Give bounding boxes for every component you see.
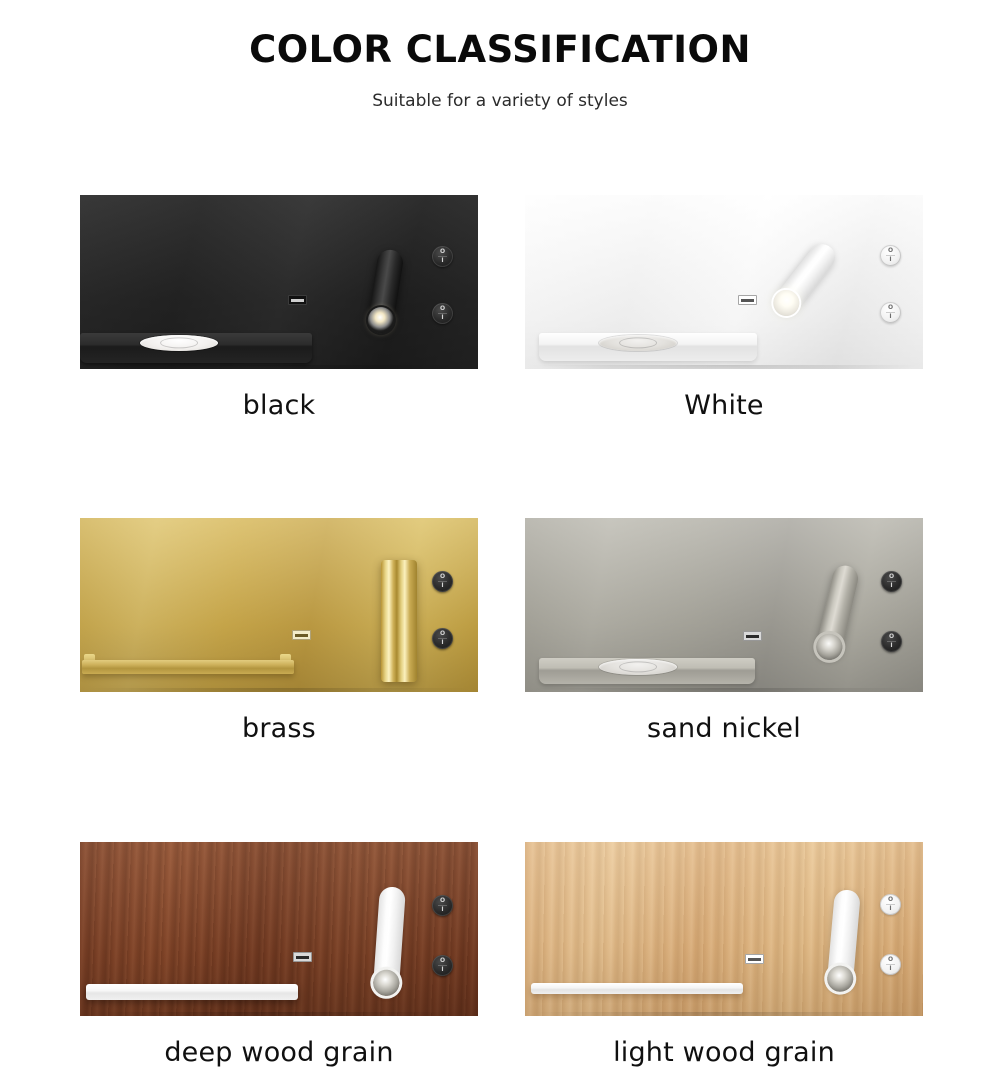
usb-port-icon xyxy=(743,631,762,641)
page-subtitle: Suitable for a variety of styles xyxy=(0,91,1000,111)
page-title: COLOR CLASSIFICATION xyxy=(0,30,1000,71)
variant-label-light-wood-grain: light wood grain xyxy=(525,1037,923,1068)
usb-port-icon xyxy=(292,630,311,640)
power-switch-top[interactable]: O I xyxy=(880,245,901,266)
wall-panel-white: O I O I xyxy=(525,195,923,369)
usb-slot xyxy=(296,956,309,959)
product-image-light-wood-grain[interactable]: O I O I xyxy=(525,842,923,1016)
usb-port-icon xyxy=(288,295,307,305)
product-shelf xyxy=(82,660,294,674)
switch-glyph-i: I xyxy=(889,257,891,263)
usb-port-icon xyxy=(293,952,312,962)
switch-glyph-i: I xyxy=(889,966,891,972)
switch-glyph-o: O xyxy=(889,574,894,580)
color-classification-page: COLOR CLASSIFICATION Suitable for a vari… xyxy=(0,0,1000,1071)
product-image-white[interactable]: O I O I xyxy=(525,195,923,369)
switch-glyph-i: I xyxy=(441,315,443,321)
power-switch-top[interactable]: O I xyxy=(432,571,453,592)
lamp-lens-icon xyxy=(372,969,400,997)
variant-card-light-wood-grain[interactable]: O I O I light wood grain xyxy=(525,842,923,1068)
switch-glyph-i: I xyxy=(441,583,443,589)
power-switch-bottom[interactable]: O I xyxy=(880,954,901,975)
product-shadow xyxy=(533,365,915,369)
switch-glyph-i: I xyxy=(890,583,892,589)
switch-glyph-o: O xyxy=(440,574,445,580)
product-shadow xyxy=(533,688,915,692)
variant-label-black: black xyxy=(80,390,478,421)
product-shelf xyxy=(80,333,312,363)
variant-card-brass[interactable]: O I O I brass xyxy=(80,518,478,744)
variant-label-brass: brass xyxy=(80,713,478,744)
wall-panel-light-wood-grain: O I O I xyxy=(525,842,923,1016)
wall-panel-deep-wood-grain: O I O I xyxy=(80,842,478,1016)
switch-glyph-i: I xyxy=(441,907,443,913)
page-header: COLOR CLASSIFICATION Suitable for a vari… xyxy=(0,0,1000,111)
variant-card-black[interactable]: O I O I xyxy=(80,195,478,421)
switch-glyph-o: O xyxy=(440,306,445,312)
charging-coil-ring-icon xyxy=(619,337,657,348)
charging-coil-ring-icon xyxy=(160,337,198,348)
switch-glyph-o: O xyxy=(440,249,445,255)
switch-glyph-o: O xyxy=(440,898,445,904)
power-switch-top[interactable]: O I xyxy=(432,246,453,267)
usb-slot xyxy=(748,958,761,961)
power-switch-bottom[interactable]: O I xyxy=(432,955,453,976)
switch-glyph-o: O xyxy=(440,631,445,637)
product-image-deep-wood-grain[interactable]: O I O I xyxy=(80,842,478,1016)
product-image-brass[interactable]: O I O I xyxy=(80,518,478,692)
power-switch-top[interactable]: O I xyxy=(432,895,453,916)
usb-slot xyxy=(295,634,308,637)
product-shelf xyxy=(539,333,757,361)
switch-glyph-i: I xyxy=(889,906,891,912)
wireless-charging-pad xyxy=(140,335,218,351)
power-switch-bottom[interactable]: O I xyxy=(880,302,901,323)
product-shelf xyxy=(539,658,755,684)
switch-glyph-i: I xyxy=(441,967,443,973)
switch-glyph-i: I xyxy=(889,314,891,320)
usb-port-icon xyxy=(738,295,757,305)
product-shadow xyxy=(533,1012,915,1016)
power-switch-bottom[interactable]: O I xyxy=(432,303,453,324)
product-shadow xyxy=(88,688,470,692)
switch-glyph-o: O xyxy=(888,897,893,903)
color-variant-grid: O I O I xyxy=(80,195,925,1068)
switch-glyph-o: O xyxy=(888,248,893,254)
switch-glyph-o: O xyxy=(888,957,893,963)
product-image-sand-nickel[interactable]: O I O I xyxy=(525,518,923,692)
usb-slot xyxy=(746,635,759,638)
switch-glyph-o: O xyxy=(888,305,893,311)
usb-port-icon xyxy=(745,954,764,964)
usb-slot xyxy=(291,299,304,302)
switch-glyph-i: I xyxy=(441,640,443,646)
wireless-charging-pad xyxy=(599,335,677,351)
switch-glyph-i: I xyxy=(441,258,443,264)
product-shelf xyxy=(531,983,743,994)
power-switch-top[interactable]: O I xyxy=(881,571,902,592)
variant-card-deep-wood-grain[interactable]: O I O I deep wood grain xyxy=(80,842,478,1068)
switch-glyph-o: O xyxy=(440,958,445,964)
product-shadow xyxy=(88,1012,470,1016)
power-switch-top[interactable]: O I xyxy=(880,894,901,915)
product-shadow xyxy=(88,365,470,369)
product-image-black[interactable]: O I O I xyxy=(80,195,478,369)
variant-card-white[interactable]: O I O I xyxy=(525,195,923,421)
variant-card-sand-nickel[interactable]: O I O I xyxy=(525,518,923,744)
wall-panel-sand-nickel: O I O I xyxy=(525,518,923,692)
switch-glyph-i: I xyxy=(890,643,892,649)
product-shelf xyxy=(86,984,298,1000)
reading-lamp-arm[interactable] xyxy=(381,560,417,682)
power-switch-bottom[interactable]: O I xyxy=(432,628,453,649)
charging-coil-ring-icon xyxy=(619,661,657,672)
variant-label-deep-wood-grain: deep wood grain xyxy=(80,1037,478,1068)
variant-label-white: White xyxy=(525,390,923,421)
wall-panel-black: O I O I xyxy=(80,195,478,369)
switch-glyph-o: O xyxy=(889,634,894,640)
variant-label-sand-nickel: sand nickel xyxy=(525,713,923,744)
wireless-charging-pad xyxy=(599,659,677,675)
power-switch-bottom[interactable]: O I xyxy=(881,631,902,652)
wall-panel-brass: O I O I xyxy=(80,518,478,692)
usb-slot xyxy=(741,299,754,302)
